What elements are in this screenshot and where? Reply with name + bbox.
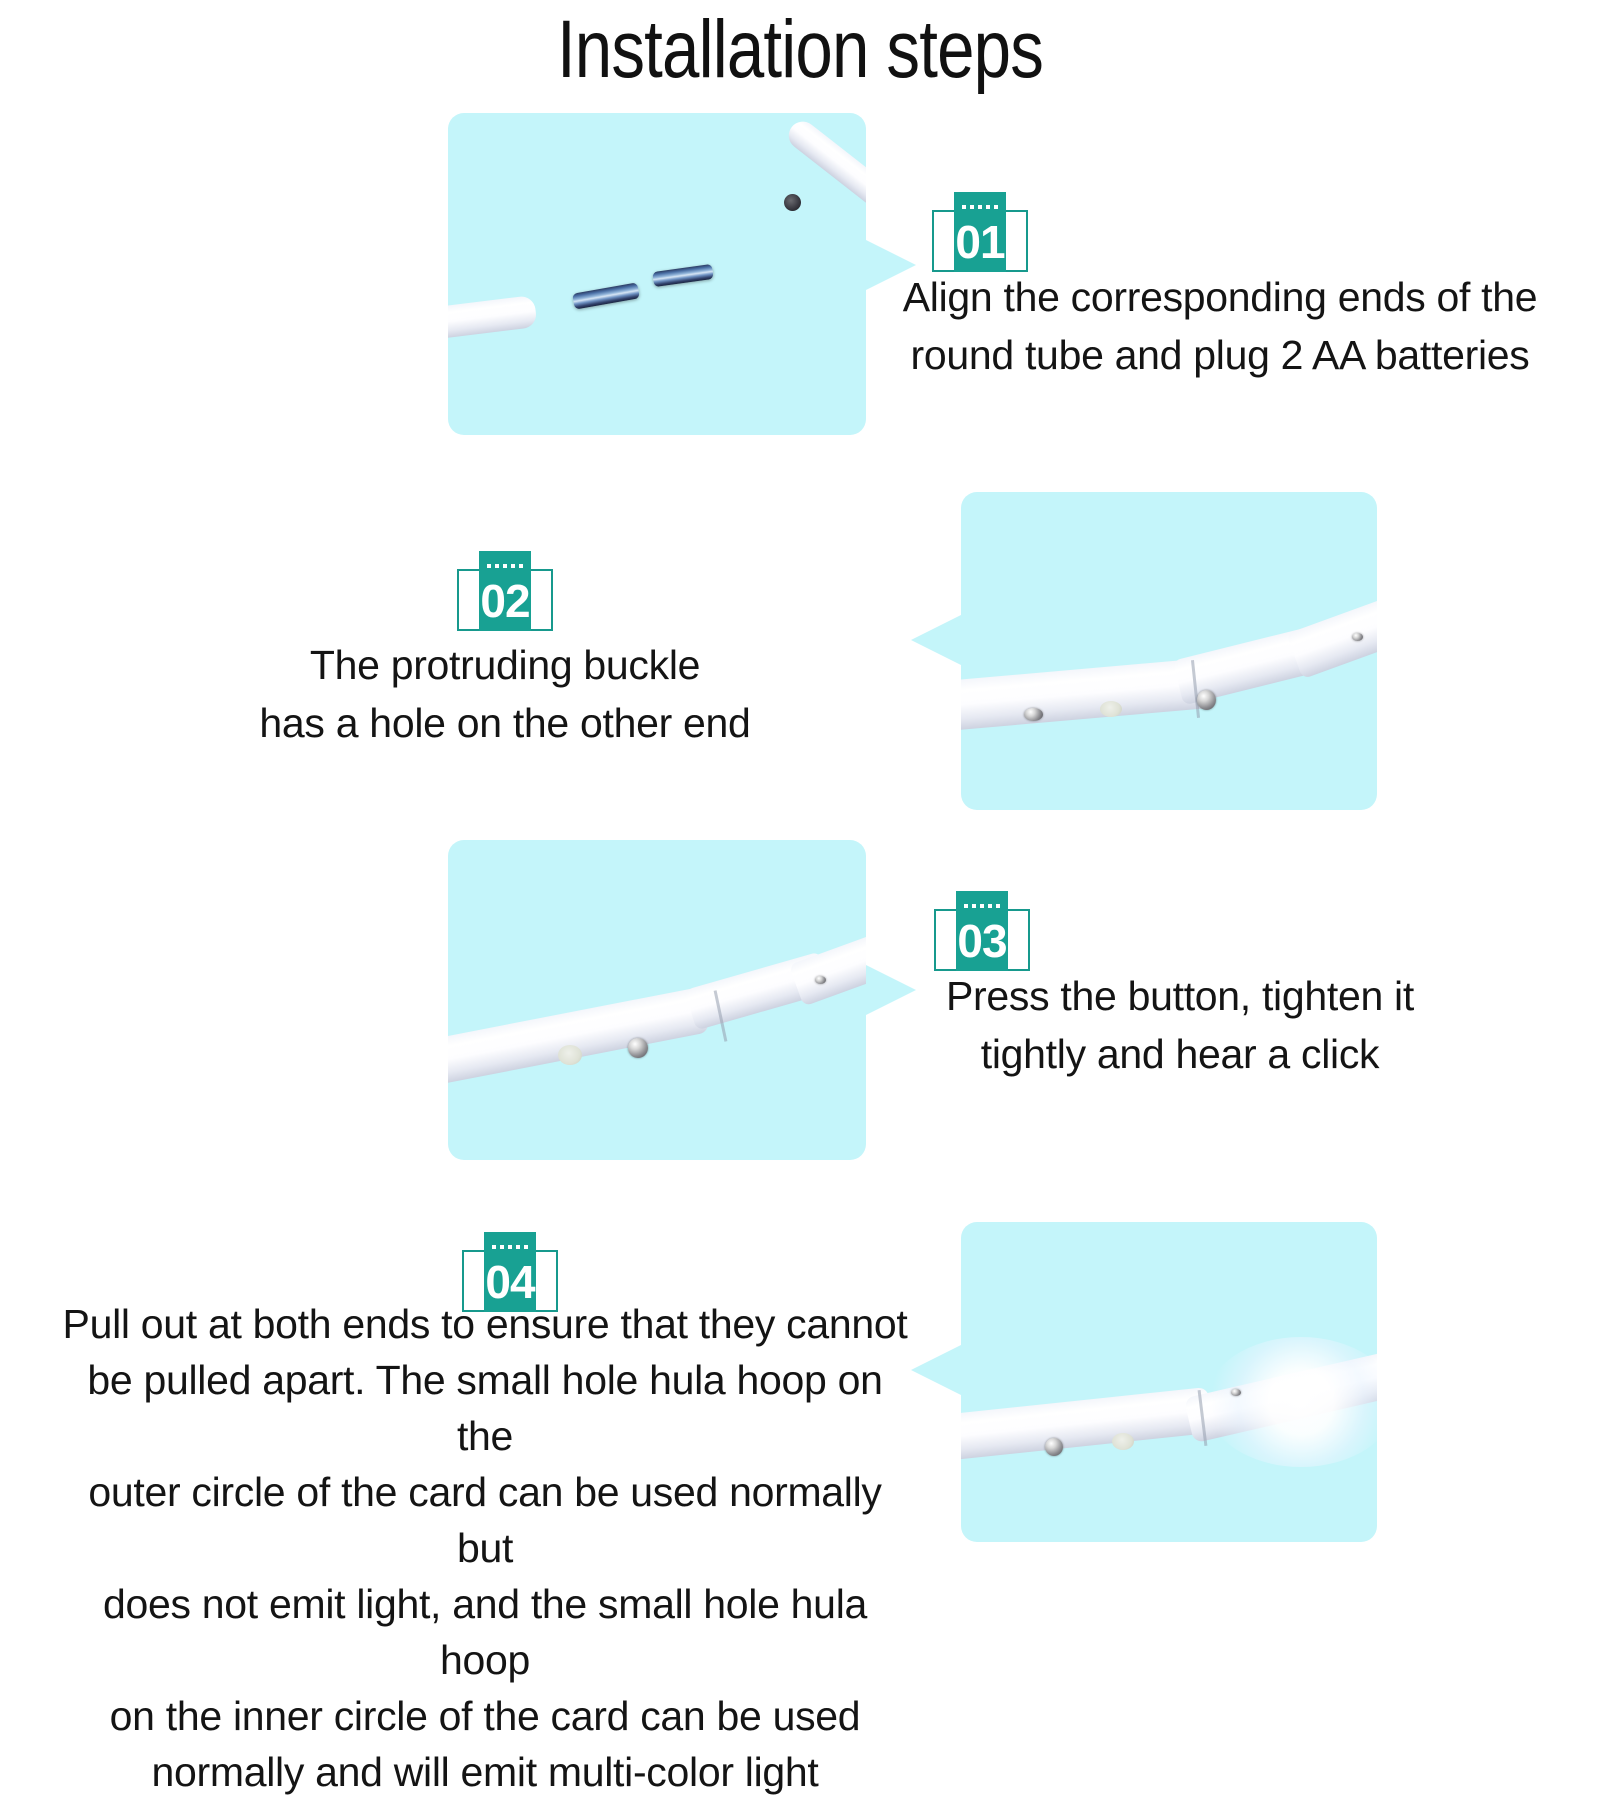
tube-open-end-cap <box>784 194 801 211</box>
step-4-caption-line-1: Pull out at both ends to ensure that the… <box>60 1296 910 1352</box>
step-3-badge: 03 <box>934 891 1030 971</box>
step-2-pointer <box>911 615 961 665</box>
step-1-caption-line-2: round tube and plug 2 AA batteries <box>900 326 1540 384</box>
metal-button-stud <box>1045 1438 1063 1456</box>
tube-far-hole <box>815 976 826 984</box>
step-4-photo-panel <box>961 1222 1377 1542</box>
step-3-photo-panel <box>448 840 866 1160</box>
step-3-caption: Press the button, tighten it tightly and… <box>900 967 1460 1083</box>
step-1-number: 01 <box>932 216 1028 268</box>
battery-cylinder-2 <box>652 264 714 287</box>
battery-cylinder-1 <box>572 282 640 309</box>
step-2-number: 02 <box>457 575 553 627</box>
tube-hole <box>1112 1433 1134 1450</box>
badge-dots-icon <box>479 564 531 568</box>
step-2-badge: 02 <box>457 551 553 631</box>
step-4-caption-line-5: on the inner circle of the card can be u… <box>60 1688 910 1744</box>
badge-dots-icon <box>956 904 1008 908</box>
metal-button-stud <box>628 1038 648 1058</box>
step-1-photo-panel <box>448 113 866 435</box>
step-3-number: 03 <box>934 915 1030 967</box>
step-4-caption-line-4: does not emit light, and the small hole … <box>60 1576 910 1688</box>
tube-far-segment <box>1286 593 1377 679</box>
step-1-caption: Align the corresponding ends of the roun… <box>900 268 1540 384</box>
step-2-caption-line-1: The protruding buckle <box>185 636 825 694</box>
step-3-caption-line-2: tightly and hear a click <box>900 1025 1460 1083</box>
tube-hole <box>558 1045 582 1065</box>
page-title: Installation steps <box>144 2 1456 98</box>
step-2-photo-panel <box>961 492 1377 810</box>
step-2-photo <box>961 492 1377 810</box>
badge-dots-icon <box>484 1245 536 1249</box>
step-1-badge: 01 <box>932 192 1028 272</box>
step-4-photo <box>961 1222 1377 1542</box>
step-3-caption-line-1: Press the button, tighten it <box>900 967 1460 1025</box>
step-4-caption: Pull out at both ends to ensure that the… <box>60 1296 910 1800</box>
step-2-caption: The protruding buckle has a hole on the … <box>185 636 825 752</box>
led-glow <box>1206 1337 1377 1467</box>
step-4-caption-line-2: be pulled apart. The small hole hula hoo… <box>60 1352 910 1464</box>
tube-hole <box>1100 701 1122 717</box>
tube-far-hole <box>1231 1389 1241 1396</box>
metal-button-stud <box>1197 690 1216 710</box>
tube-segment-left <box>448 295 538 339</box>
step-1-caption-line-1: Align the corresponding ends of the <box>900 268 1540 326</box>
step-4-caption-line-6: normally and will emit multi-color light <box>60 1744 910 1800</box>
tube-far-hole <box>1352 633 1363 641</box>
tube-side-hole <box>1024 708 1043 721</box>
step-4-caption-line-3: outer circle of the card can be used nor… <box>60 1464 910 1576</box>
step-2-caption-line-2: has a hole on the other end <box>185 694 825 752</box>
step-3-photo <box>448 840 866 1160</box>
tube-outer-segment <box>448 987 710 1089</box>
tube-outer-segment <box>961 1387 1213 1463</box>
step-4-pointer <box>911 1345 961 1395</box>
step-1-photo <box>448 113 866 435</box>
badge-dots-icon <box>954 205 1006 209</box>
tube-far-segment <box>789 928 866 1007</box>
